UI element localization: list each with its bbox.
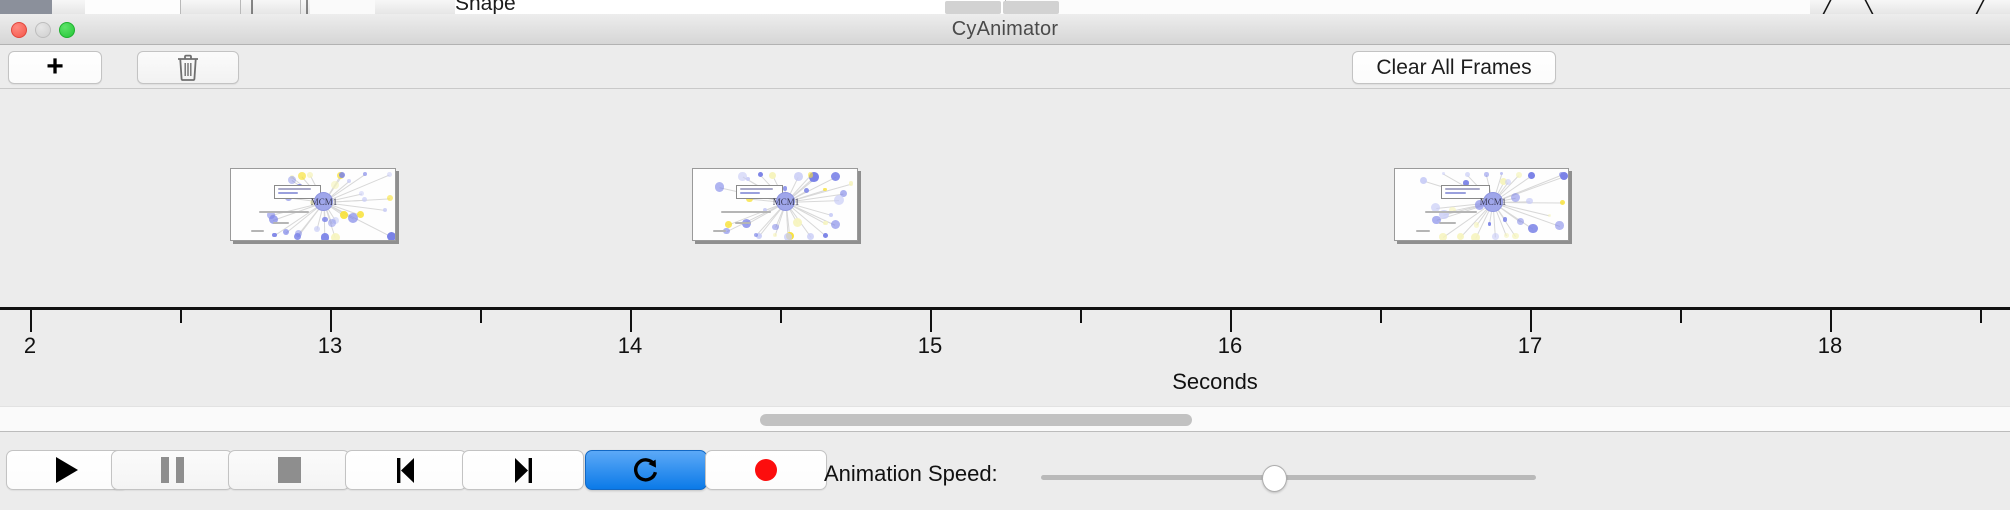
axis-tick-label: 16 [1218, 333, 1242, 359]
background-dark-tab [0, 0, 52, 14]
plus-icon: + [46, 52, 64, 82]
axis-rule [0, 307, 2010, 310]
record-button[interactable] [705, 450, 827, 490]
record-icon [753, 457, 779, 483]
stop-icon [278, 457, 301, 483]
thumbnail-hub-node: MCM1 [1483, 192, 1503, 212]
keyframe-thumbnail[interactable]: MCM1 [230, 168, 396, 241]
next-frame-button[interactable] [462, 450, 584, 490]
pause-button[interactable] [111, 450, 233, 490]
background-panel-2 [310, 0, 375, 14]
background-glyph-icon: | [305, 0, 309, 14]
timeline-scrollbar[interactable] [0, 406, 2010, 432]
loop-icon [631, 455, 661, 485]
toolbar: + Clear All Frames [0, 45, 2010, 89]
cyanimator-window: Shape | | ╱ ╲ ╱ CyAnimator + Clear All [0, 0, 2010, 510]
axis-tick-minor [180, 310, 182, 323]
background-glyph-icon: ╱ [1822, 0, 1834, 14]
background-panel-1 [85, 0, 180, 14]
axis-tick-major [1230, 310, 1232, 332]
add-frame-button[interactable]: + [8, 51, 102, 84]
background-shape-label: Shape [455, 0, 516, 14]
thumbnail-hub-node: MCM1 [314, 192, 333, 211]
background-glyph-icon: ╲ [1862, 0, 1874, 14]
background-divider [300, 0, 301, 14]
axis-tick-label: 17 [1518, 333, 1542, 359]
timeline-axis: 2131415161718Seconds [0, 307, 2010, 406]
background-glyph-icon: | [250, 0, 254, 14]
background-panel-4 [1010, 0, 1810, 14]
axis-tick-minor [1680, 310, 1682, 323]
clear-all-frames-button[interactable]: Clear All Frames [1352, 51, 1556, 84]
axis-tick-major [630, 310, 632, 332]
axis-tick-label: 18 [1818, 333, 1842, 359]
skip-forward-icon [509, 457, 537, 484]
keyframe-thumbnail[interactable]: MCM1 [1394, 168, 1569, 241]
loop-button[interactable] [585, 450, 707, 490]
axis-tick-major [930, 310, 932, 332]
axis-title: Seconds [1172, 369, 1258, 395]
play-button[interactable] [6, 450, 128, 490]
background-glyph-icon: ╱ [1975, 0, 1987, 14]
prev-frame-button[interactable] [345, 450, 467, 490]
axis-tick-label: 13 [318, 333, 342, 359]
pause-icon [161, 457, 184, 483]
axis-tick-major [1530, 310, 1532, 332]
background-window-strip: Shape | | ╱ ╲ ╱ [0, 0, 2010, 14]
background-button [945, 1, 1001, 14]
animation-speed-slider[interactable] [1041, 475, 1536, 480]
background-panel-3 [455, 0, 1005, 14]
play-icon [56, 457, 78, 483]
background-button [1003, 1, 1059, 14]
timeline-panel[interactable]: MCM1MCM1MCM1 2131415161718Seconds [0, 89, 2010, 406]
trash-icon [176, 54, 200, 81]
scrollbar-thumb[interactable] [760, 414, 1192, 426]
axis-tick-major [330, 310, 332, 332]
clear-all-frames-label: Clear All Frames [1376, 56, 1531, 80]
background-divider [180, 0, 181, 14]
axis-tick-minor [1080, 310, 1082, 323]
axis-tick-label: 15 [918, 333, 942, 359]
player-controls-bar: Animation Speed: [0, 433, 2010, 510]
axis-tick-minor [780, 310, 782, 323]
stop-button[interactable] [228, 450, 350, 490]
keyframe-thumbnails: MCM1MCM1MCM1 [0, 89, 2010, 309]
axis-tick-label: 14 [618, 333, 642, 359]
axis-tick-minor [480, 310, 482, 323]
title-bar: CyAnimator [0, 14, 2010, 45]
axis-tick-label: 2 [24, 333, 36, 359]
axis-tick-major [30, 310, 32, 332]
delete-frame-button[interactable] [137, 51, 239, 84]
keyframe-thumbnail[interactable]: MCM1 [692, 168, 858, 241]
animation-speed-label: Animation Speed: [824, 461, 998, 487]
axis-tick-minor [1980, 310, 1982, 323]
window-title: CyAnimator [0, 14, 2010, 45]
skip-back-icon [392, 457, 420, 484]
axis-tick-minor [1380, 310, 1382, 323]
animation-speed-slider-thumb[interactable] [1262, 465, 1287, 492]
axis-tick-major [1830, 310, 1832, 332]
background-divider [240, 0, 241, 14]
